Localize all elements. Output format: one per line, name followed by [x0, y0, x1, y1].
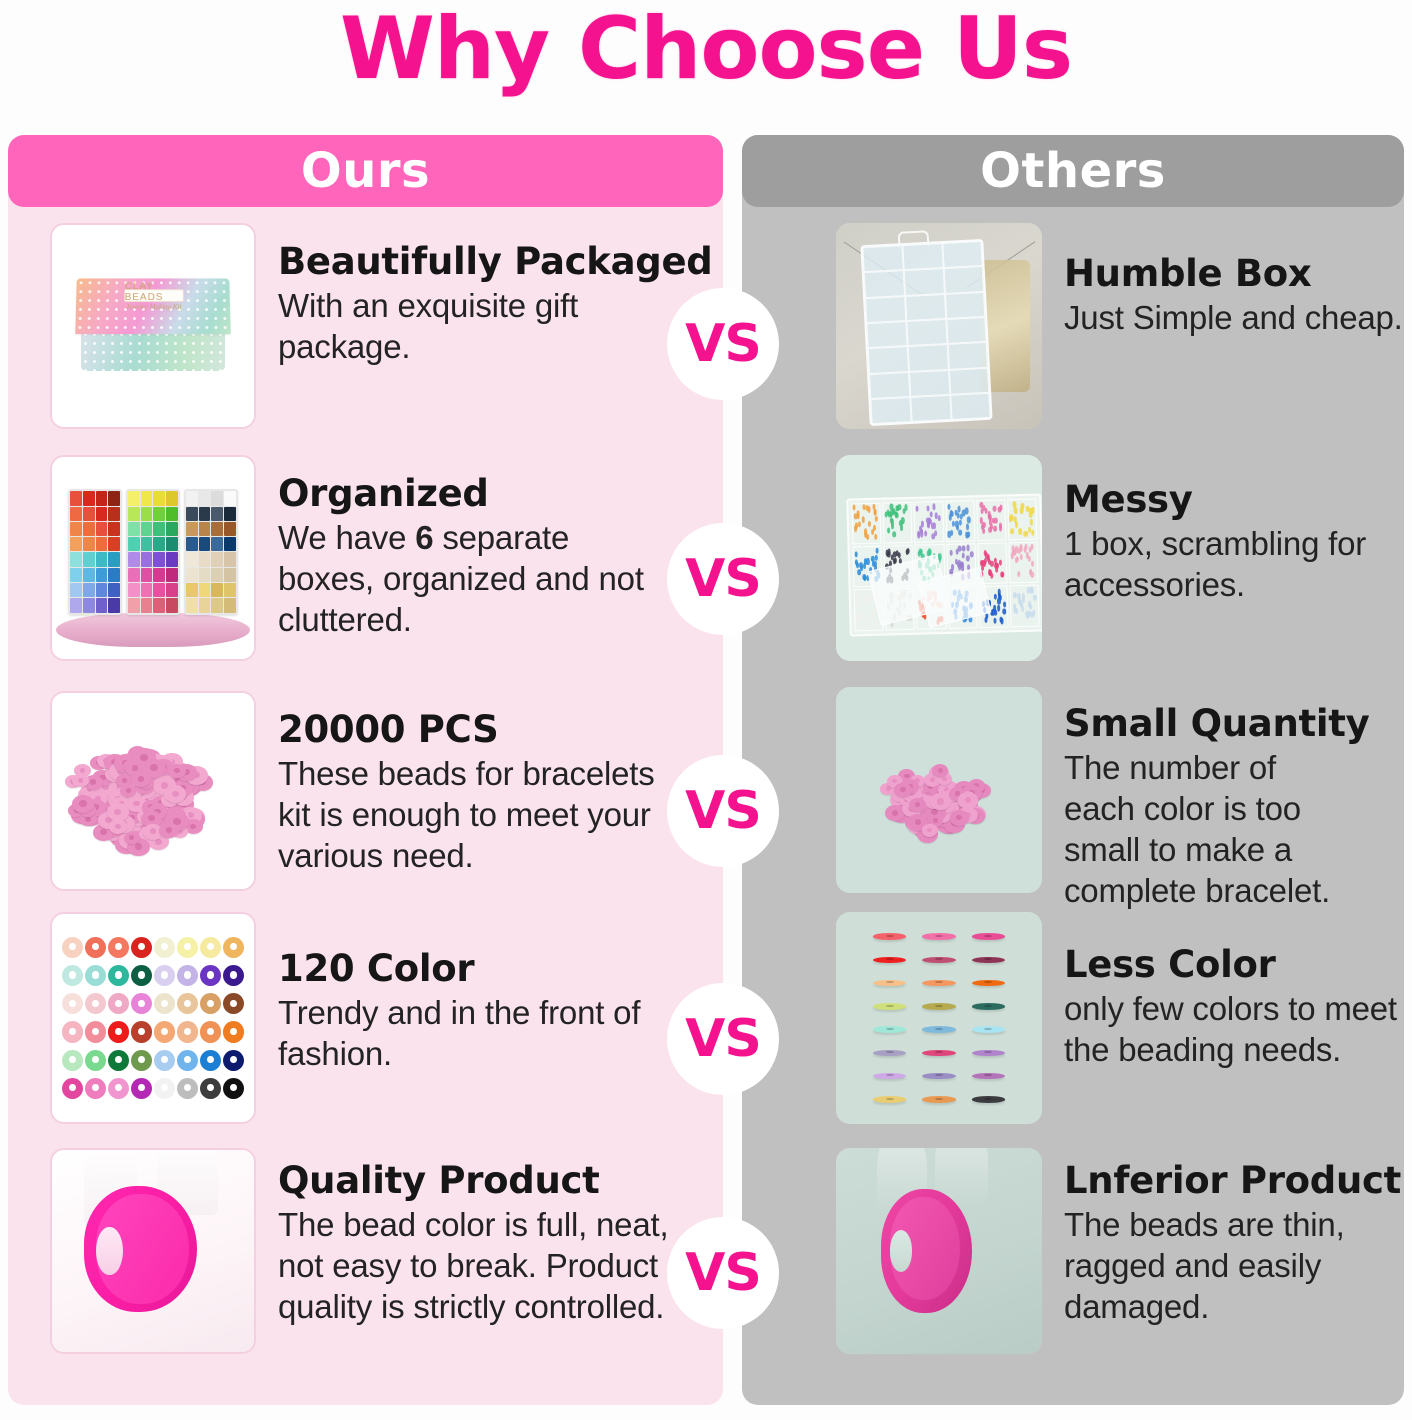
body-others-3: The number of each color is too small to…	[1064, 748, 1354, 912]
body-others-2: 1 box, scrambling for accessories.	[1064, 524, 1404, 606]
row-others-5: Lnferior Product The beads are thin, rag…	[742, 1140, 1404, 1380]
bead-swatch	[131, 993, 152, 1014]
body-ours-4: Trendy and in the front of fashion.	[278, 993, 678, 1075]
bead-swatch	[62, 1050, 83, 1071]
body-ours-3: These beads for bracelets kit is enough …	[278, 754, 678, 877]
body-ours-1: With an exquisite gift package.	[278, 286, 678, 368]
body-others-4: only few colors to meet the beading need…	[1064, 989, 1404, 1071]
bead-swatch	[200, 993, 221, 1014]
row-others-4: Less Color only few colors to meet the b…	[742, 910, 1404, 1140]
bead-tray	[126, 489, 180, 614]
heading-others-5: Lnferior Product	[1064, 1160, 1404, 1201]
rows-others: Humble Box Just Simple and cheap. Messy …	[742, 207, 1404, 1380]
bead-swatch	[108, 1021, 129, 1042]
bead-swatch	[200, 1050, 221, 1071]
bead-swatch	[223, 1050, 244, 1071]
bead-disc	[922, 1003, 955, 1009]
bead-disc	[972, 933, 1005, 939]
bead-disc	[922, 957, 955, 963]
small-pink-bead-pile-photo	[836, 687, 1042, 893]
vs-badge-5: VS	[667, 1217, 779, 1329]
bead-tray	[68, 489, 122, 614]
column-ours: Ours CLAY BEADS Jewelry Making Kit	[8, 135, 723, 1405]
bead-swatch	[85, 1021, 106, 1042]
vs-badge-1: VS	[667, 288, 779, 400]
heading-others-2: Messy	[1064, 479, 1404, 520]
bead-disc	[873, 1026, 906, 1032]
bead-disc	[873, 980, 906, 986]
bead-swatch	[177, 993, 198, 1014]
bead-disc	[972, 1096, 1005, 1102]
color-swatch-grid-photo	[50, 912, 256, 1124]
bead-swatch	[200, 1021, 221, 1042]
body-ours-2: We have 6 separate boxes, organized and …	[278, 518, 658, 641]
body-others-1: Just Simple and cheap.	[1064, 298, 1404, 339]
bead-swatch	[131, 1078, 152, 1099]
bead-swatch	[131, 1021, 152, 1042]
bead-disc	[922, 1050, 955, 1056]
bead-swatch	[62, 965, 83, 986]
bead-disc	[972, 1026, 1005, 1032]
body-others-5: The beads are thin, ragged and easily da…	[1064, 1205, 1404, 1328]
row-ours-1: CLAY BEADS Jewelry Making Kit Beautifull…	[8, 207, 723, 453]
bead-swatch	[154, 965, 175, 986]
bead-disc	[922, 1096, 955, 1102]
bead-swatch	[108, 1050, 129, 1071]
bead-swatch	[85, 1078, 106, 1099]
rows-ours: CLAY BEADS Jewelry Making Kit Beautifull…	[8, 207, 723, 1380]
bead-swatch	[154, 1078, 175, 1099]
bead-swatch	[108, 937, 129, 958]
bead-swatch	[62, 993, 83, 1014]
bead-swatch	[154, 993, 175, 1014]
bead-swatch	[154, 1021, 175, 1042]
row-ours-3: 20000 PCS These beads for bracelets kit …	[8, 685, 723, 910]
bead-disc	[922, 1026, 955, 1032]
clear-plastic-box-photo	[836, 223, 1042, 429]
bead-swatch	[223, 1078, 244, 1099]
gift-box-subtitle: Jewelry Making Kit	[126, 302, 181, 310]
bead-disc	[972, 1073, 1005, 1079]
bead-swatch	[108, 965, 129, 986]
bead-disc	[873, 957, 906, 963]
bead-swatch	[200, 937, 221, 958]
heading-ours-3: 20000 PCS	[278, 709, 723, 750]
bead-swatch	[200, 1078, 221, 1099]
messy-bead-box-photo	[836, 455, 1042, 661]
bead-swatch	[85, 1050, 106, 1071]
bead-disc	[873, 1050, 906, 1056]
bead-swatch	[154, 1050, 175, 1071]
bead-disc	[972, 1050, 1005, 1056]
bead-disc	[922, 1073, 955, 1079]
bead-swatch	[200, 965, 221, 986]
large-pink-bead-pile-photo	[50, 691, 256, 891]
bead-swatch	[131, 937, 152, 958]
row-others-1: Humble Box Just Simple and cheap.	[742, 207, 1404, 453]
bead-swatch	[108, 1078, 129, 1099]
bead-swatch	[223, 937, 244, 958]
limited-color-swatch-photo	[836, 912, 1042, 1124]
heading-others-1: Humble Box	[1064, 253, 1404, 294]
bead-disc	[972, 957, 1005, 963]
page-title: Why Choose Us	[0, 4, 1412, 94]
bead-swatch	[154, 937, 175, 958]
body-ours-5: The bead color is full, neat, not easy t…	[278, 1205, 678, 1328]
row-others-2: Messy 1 box, scrambling for accessories.	[742, 453, 1404, 685]
quality-bead-macro-photo	[50, 1148, 256, 1354]
bead-disc	[873, 1096, 906, 1102]
gift-box-brand: CLAY BEADS	[125, 281, 183, 303]
bead-disc	[972, 1003, 1005, 1009]
bead-swatch	[62, 1078, 83, 1099]
heading-ours-5: Quality Product	[278, 1160, 723, 1201]
gift-box-photo: CLAY BEADS Jewelry Making Kit	[50, 223, 256, 429]
row-ours-2: Organized We have 6 separate boxes, orga…	[8, 453, 723, 685]
bead-disc	[873, 1003, 906, 1009]
bead-disc	[922, 980, 955, 986]
heading-ours-1: Beautifully Packaged	[278, 241, 723, 282]
heading-others-4: Less Color	[1064, 944, 1404, 985]
bead-swatch	[223, 993, 244, 1014]
bead-swatch	[177, 1050, 198, 1071]
column-others: Others Humble Box Just Simple and cheap.	[742, 135, 1404, 1405]
bead-swatch	[62, 1021, 83, 1042]
bead-swatch	[223, 965, 244, 986]
bead-swatch	[131, 1050, 152, 1071]
heading-others-3: Small Quantity	[1064, 703, 1404, 744]
bead-disc	[873, 1073, 906, 1079]
organized-bead-trays-photo	[50, 455, 256, 661]
bead-disc	[972, 980, 1005, 986]
bead-swatch	[85, 937, 106, 958]
inferior-bead-macro-photo	[836, 1148, 1042, 1354]
bead-swatch	[223, 1021, 244, 1042]
bead-swatch	[85, 993, 106, 1014]
column-header-ours: Ours	[8, 135, 723, 207]
vs-badge-2: VS	[667, 523, 779, 635]
vs-badge-3: VS	[667, 755, 779, 867]
heading-ours-4: 120 Color	[278, 948, 723, 989]
bead-disc	[873, 933, 906, 939]
bead-swatch	[62, 937, 83, 958]
row-others-3: Small Quantity The number of each color …	[742, 685, 1404, 910]
vs-badge-4: VS	[667, 983, 779, 1095]
bead-swatch	[177, 1078, 198, 1099]
column-header-others: Others	[742, 135, 1404, 207]
bead-swatch	[131, 965, 152, 986]
bead-swatch	[108, 993, 129, 1014]
bead-disc	[922, 933, 955, 939]
bead-tray	[184, 489, 238, 614]
bead-swatch	[177, 1021, 198, 1042]
row-ours-4: 120 Color Trendy and in the front of fas…	[8, 910, 723, 1140]
bead-swatch	[177, 937, 198, 958]
bead-swatch	[177, 965, 198, 986]
row-ours-5: Quality Product The bead color is full, …	[8, 1140, 723, 1380]
heading-ours-2: Organized	[278, 473, 723, 514]
comparison-board: Ours CLAY BEADS Jewelry Making Kit	[0, 135, 1412, 1407]
bead-swatch	[85, 965, 106, 986]
